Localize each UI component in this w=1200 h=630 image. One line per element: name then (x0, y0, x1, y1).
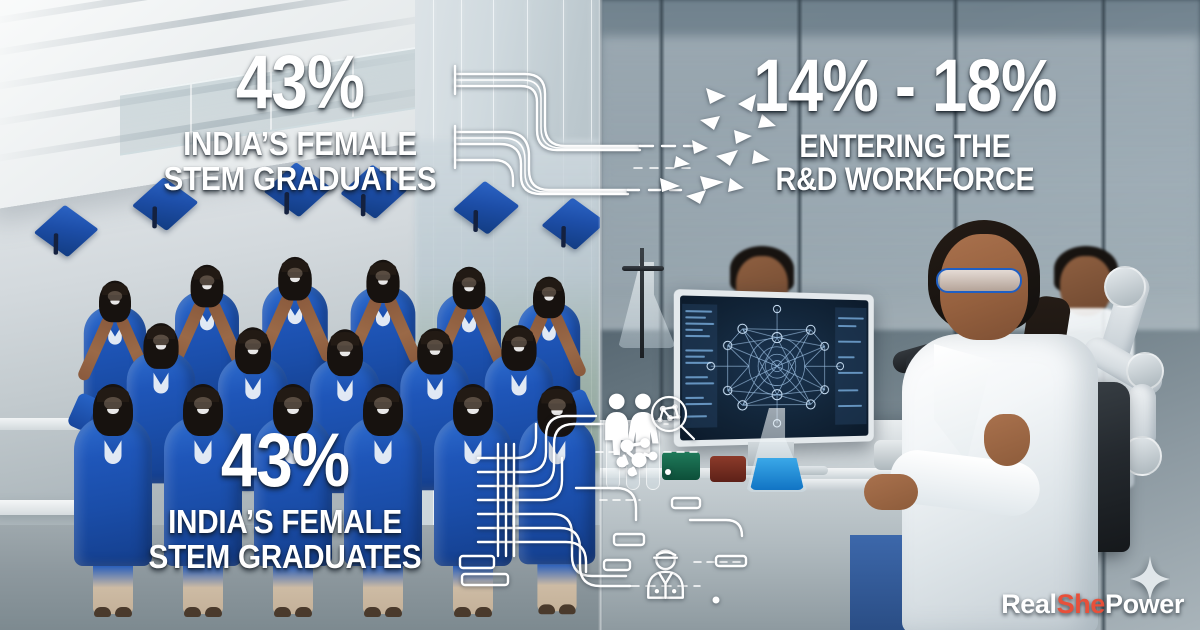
panel-divider (598, 0, 603, 630)
red-liquid-beaker (710, 456, 746, 482)
left-bottom-stat-number: 43% (135, 424, 436, 498)
green-liquid-beaker (662, 452, 700, 480)
left-top-stat-line1: INDIA’S FEMALE (152, 127, 449, 162)
mortarboard-cap (34, 205, 99, 258)
left-bottom-stat-block: 43% INDIA’S FEMALE STEM GRADUATES (110, 424, 460, 575)
right-stat-line1: ENTERING THE (734, 130, 1076, 164)
right-stat-number: 14% - 18% (742, 50, 1069, 123)
logo-text-real: Real (1001, 589, 1056, 620)
retort-stand (640, 248, 644, 358)
test-tube (626, 424, 640, 490)
logo-text-power: Power (1105, 589, 1184, 620)
scientist-hand-keyboard (864, 474, 918, 510)
right-stat-block: 14% - 18% ENTERING THE R&D WORKFORCE (715, 50, 1095, 197)
graduate-figure (519, 390, 595, 564)
realshepower-logo[interactable]: Real She Power (1001, 589, 1184, 620)
left-top-stat-number: 43% (158, 46, 442, 120)
infographic-canvas: 43% INDIA’S FEMALE STEM GRADUATES 43% IN… (0, 0, 1200, 630)
left-bottom-stat-line2: STEM GRADUATES (128, 540, 443, 575)
left-top-stat-block: 43% INDIA’S FEMALE STEM GRADUATES (135, 46, 465, 197)
scientist-hand-chin (984, 414, 1030, 466)
test-tube (606, 430, 620, 490)
retort-clamp (622, 266, 664, 271)
left-bottom-stat-line1: INDIA’S FEMALE (128, 505, 443, 540)
blue-liquid (750, 458, 804, 490)
safety-goggles-icon (936, 268, 1022, 293)
test-tube (646, 430, 660, 490)
logo-text-she: She (1057, 589, 1105, 620)
right-stat-line2: R&D WORKFORCE (734, 163, 1076, 197)
left-top-stat-line2: STEM GRADUATES (152, 162, 449, 197)
female-scientist (868, 218, 1128, 630)
